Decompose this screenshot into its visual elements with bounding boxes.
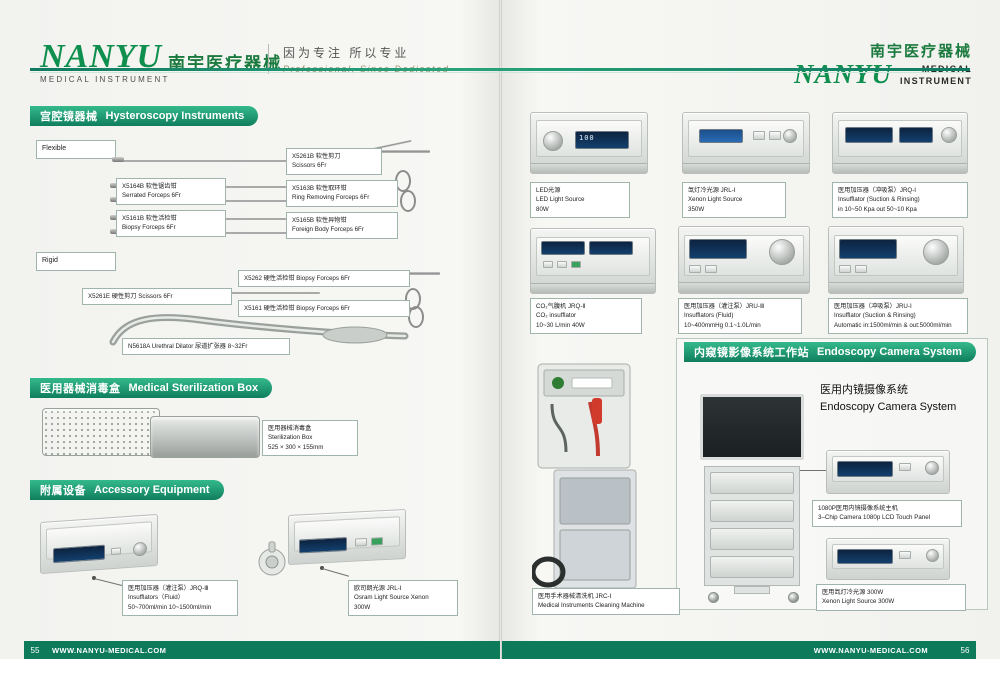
device-base [833,163,967,173]
xenon-light-source-image [288,509,406,565]
device-base [829,282,963,293]
device-knob [133,542,147,557]
instrument-label: X5261B 软性剪刀 Scissors 6Fr [286,148,382,175]
device-power-button [371,537,383,546]
device-button [705,265,717,273]
device-button [753,131,765,140]
device-screen [589,241,633,255]
brand-subtitle-en: MEDICAL INSTRUMENT [40,75,282,84]
brand-name-cn-right: 南宇医疗器械 [794,40,972,61]
page-number-right: 56 [954,641,976,659]
xenon-light-source-350w-image [682,112,810,174]
section-title-sterilization: 医用器械消毒盒 Medical Sterilization Box [30,378,272,398]
device-label-co2: CO₂气腹机 JRQ-Ⅱ CO₂ insufflator 10~30 L/min… [530,298,642,334]
group-label-rigid: Rigid [36,252,116,271]
slogan-cn: 因为专注 所以专业 [283,44,449,61]
leader-line [800,470,826,471]
sterilization-box-image [150,416,260,458]
sterilization-box-label: 医用器械消毒盒 Sterilization Box 525 × 300 × 15… [262,420,358,456]
camera-item-label-1080p: 1080P医用内镜摄像系统主机 3–Chip Camera 1080p LCD … [812,500,962,527]
device-knob [783,129,797,143]
leader-line [94,578,125,587]
page-number-left: 55 [24,641,46,659]
header-rule-light [30,72,970,73]
cleaning-machine-top-image [532,352,636,472]
device-knob [925,461,939,475]
xenon-300w-image [826,538,950,580]
section-title-en: Accessory Equipment [94,484,210,496]
section-title-cn: 医用器械消毒盒 [40,380,121,396]
endoscopy-trolley-image [690,380,820,610]
instrument-label: X5164B 软性锯齿钳 Serrated Forceps 6Fr [116,178,226,205]
trolley-monitor [700,394,804,460]
section-title-accessory: 附属设备 Accessory Equipment [30,480,224,500]
leader-line [322,568,349,577]
instrument-tip [112,157,124,162]
device-screen [699,129,743,143]
brand-wordmark-right: NANYU [794,61,892,88]
section-title-cn: 内窥镜影像系统工作站 [694,344,809,360]
trolley-shelf-device [710,528,794,550]
page-spine [499,0,502,683]
device-screen [541,241,585,255]
device-button [839,265,851,273]
device-button [557,261,567,268]
device-button [899,463,911,471]
device-roller-pump [769,239,795,265]
section-title-en: Endoscopy Camera System [817,346,962,358]
sterilization-tray-image [42,408,160,456]
cleaning-machine-image [532,460,644,596]
device-screen [899,127,933,143]
trolley-column [734,586,770,594]
section-title-en: Hysteroscopy Instruments [106,110,245,122]
device-label-xenon: 氙灯冷光源 JRL-Ⅰ Xenon Light Source 350W [682,182,786,218]
device-roller-pump [923,239,949,265]
device-button [855,265,867,273]
device-screen: 100 [575,131,629,149]
device-base [531,163,647,173]
device-power-button [571,261,581,268]
trolley-shelf-device [710,472,794,494]
instrument-label: X5161 硬性活检钳 Biopsy Forceps 6Fr [238,300,410,317]
camera-control-unit-image [826,450,950,494]
brand-en-right-line2: INSTRUMENT [900,76,972,87]
page-header: NANYU 南宇医疗器械 MEDICAL INSTRUMENT 因为专注 所以专… [0,18,1000,70]
trolley-wheel [788,592,799,603]
light-source-lens-image [252,540,292,580]
camera-item-label-xenon300: 医用氙灯冷光源 300W Xenon Light Source 300W [816,584,966,611]
section-title-camera-system: 内窥镜影像系统工作站 Endoscopy Camera System [684,342,976,362]
insufflator-jru1-image [828,226,964,294]
camera-system-big-caption: 医用内镜摄像系统 Endoscopy Camera System [820,382,956,415]
cleaning-machine-label: 医用手术器械清洗机 JRC-Ⅰ Medical Instruments Clea… [532,588,680,615]
device-label-insufflator-jru3: 医用加压器（灌注泵）JRU-Ⅲ Insufflators (Fluid) 10~… [678,298,802,334]
trolley-shelf-device [710,500,794,522]
logo-left: NANYU 南宇医疗器械 MEDICAL INSTRUMENT [40,40,282,84]
accessory-label-light-source: 欧司朗光源 JRL-Ⅰ Osram Light Source Xenon 300… [348,580,458,616]
accessory-label-insufflator: 医用加压器（灌注泵）JRQ-Ⅲ Insufflators（Fluid） 50~7… [122,580,238,616]
device-base [683,163,809,173]
logo-right: 南宇医疗器械 NANYU MEDICAL INSTRUMENT [794,40,972,88]
device-screen [845,127,893,143]
footer-background [0,659,1000,683]
instrument-label: X5161B 软性活检钳 Biopsy Forceps 6Fr [116,210,226,237]
device-screen-value: 100 [576,132,628,144]
footer-url-right: WWW.NANYU-MEDICAL.COM [814,641,928,659]
device-base [679,282,809,293]
insufflator-fluid-image [40,514,158,574]
device-label-led: LED光源 LED Light Source 80W [530,182,630,218]
device-button [689,265,701,273]
device-knob [941,127,957,143]
device-screen [53,545,105,564]
forceps-ring-handle [400,190,416,212]
header-rule [30,68,970,71]
device-knob [926,549,939,562]
insufflator-fluid-jru3-image [678,226,810,294]
device-screen [689,239,747,259]
footer-url-left: WWW.NANYU-MEDICAL.COM [52,641,166,659]
section-title-hysteroscopy: 宫腔镜器械 Hysteroscopy Instruments [30,106,258,126]
led-light-source-image: 100 [530,112,648,174]
device-button [899,551,911,559]
instrument-label: X5163B 软性取环钳 Ring Removing Forceps 6Fr [286,180,398,207]
co2-insufflator-image [530,228,656,294]
device-screen [837,549,893,564]
instrument-label-dilator: N5618A Urethral Dilator 尿道扩张器 8~32Fr [122,338,290,355]
device-base [531,283,655,293]
trolley-shelf-device [710,556,794,578]
instrument-label: X5165B 软性异物钳 Foreign Body Forceps 6Fr [286,212,398,239]
device-screen [839,239,897,259]
device-button [769,131,781,140]
device-button [543,261,553,268]
device-knob [543,131,563,151]
group-label-flexible: Flexible [36,140,116,159]
device-screen [299,537,347,554]
section-title-en: Medical Sterilization Box [129,382,259,394]
device-label-insufflator-jru1: 医用加压器（冲吸泵）JRU-Ⅰ Insufflator (Suction & R… [828,298,968,334]
insufflator-suction-rinsing-image [832,112,968,174]
device-button [355,538,367,547]
device-label-insufflator-jrq1: 医用加压器（冲吸泵）JRQ-Ⅰ Insufflator (Suction & R… [832,182,968,218]
section-title-cn: 附属设备 [40,482,86,498]
instrument-label: X5261E 硬性剪刀 Scissors 6Fr [82,288,232,305]
trolley-wheel [708,592,719,603]
device-button [111,547,121,555]
instrument-label: X5262 硬性活检钳 Biopsy Forceps 6Fr [238,270,410,287]
catalog-page: NANYU 南宇医疗器械 MEDICAL INSTRUMENT 因为专注 所以专… [0,0,1000,683]
section-title-cn: 宫腔镜器械 [40,108,98,124]
device-screen [837,461,893,477]
